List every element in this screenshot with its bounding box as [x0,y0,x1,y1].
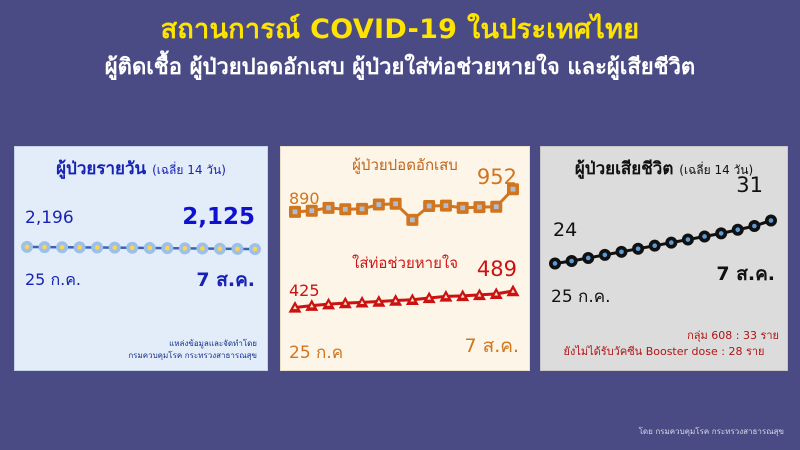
deaths-start-date: 25 ก.ค. [551,283,611,310]
page-title: สถานการณ์ COVID-19 ในประเทศไทย [0,14,800,45]
daily-date-row: 25 ก.ค. 7 ส.ค. [15,268,267,294]
daily-value-row: 2,196 2,125 [15,208,267,238]
daily-title-note: (เฉลี่ย 14 วัน) [152,163,226,177]
pneumonia-end-value: 952 [477,165,517,189]
deaths-note-booster: ยังไม่ได้รับวัคซีน Booster dose : 28 ราย [549,344,779,360]
ventilator-start-value: 425 [289,281,320,300]
daily-start-date: 25 ก.ค. [25,268,81,293]
daily-end-value: 2,125 [182,204,255,230]
panel-pneumonia-ventilator: ผู้ป่วยปอดอักเสบ 890 952 ใส่ท่อช่วยหายใจ… [280,146,530,371]
ventilator-end-value: 489 [477,257,517,281]
deaths-start-value: 24 [553,219,577,241]
source-line-2: กรมควบคุมโรค กระทรวงสาธารณสุข [128,350,257,362]
daily-chart-svg [15,238,267,258]
deaths-end-date: 7 ส.ค. [716,259,775,289]
header: สถานการณ์ COVID-19 ในประเทศไทย ผู้ติดเชื… [0,0,800,80]
deaths-note-608: กลุ่ม 608 : 33 ราย [549,328,779,344]
panel-daily-cases: ผู้ป่วยรายวัน (เฉลี่ย 14 วัน) 2,196 2,12… [14,146,268,371]
source-line-1: แหล่งข้อมูลและจัดทำโดย [128,338,257,350]
deaths-end-value: 31 [736,173,763,197]
deaths-notes: กลุ่ม 608 : 33 ราย ยังไม่ได้รับวัคซีน Bo… [549,328,779,360]
panels-container: ผู้ป่วยรายวัน (เฉลี่ย 14 วัน) 2,196 2,12… [0,146,800,378]
daily-source-note: แหล่งข้อมูลและจัดทำโดย กรมควบคุมโรค กระท… [128,338,257,362]
daily-chart [15,238,267,258]
daily-start-value: 2,196 [25,208,74,228]
pneumonia-end-date: 7 ส.ค. [464,331,519,361]
footer-credit: โดย กรมควบคุมโรค กระทรวงสาธารณสุข [639,425,784,438]
daily-title-text: ผู้ป่วยรายวัน [56,159,146,179]
daily-end-date: 7 ส.ค. [196,265,255,295]
panel-deaths: ผู้ป่วยเสียชีวิต (เฉลี่ย 14 วัน) 24 31 2… [540,146,788,371]
page-subtitle: ผู้ติดเชื้อ ผู้ป่วยปอดอักเสบ ผู้ป่วยใส่ท… [0,55,800,80]
deaths-title-text: ผู้ป่วยเสียชีวิต [575,159,674,179]
pneumonia-start-date: 25 ก.ค [289,339,343,366]
daily-panel-title: ผู้ป่วยรายวัน (เฉลี่ย 14 วัน) [15,147,267,182]
pneumonia-start-value: 890 [289,189,320,208]
